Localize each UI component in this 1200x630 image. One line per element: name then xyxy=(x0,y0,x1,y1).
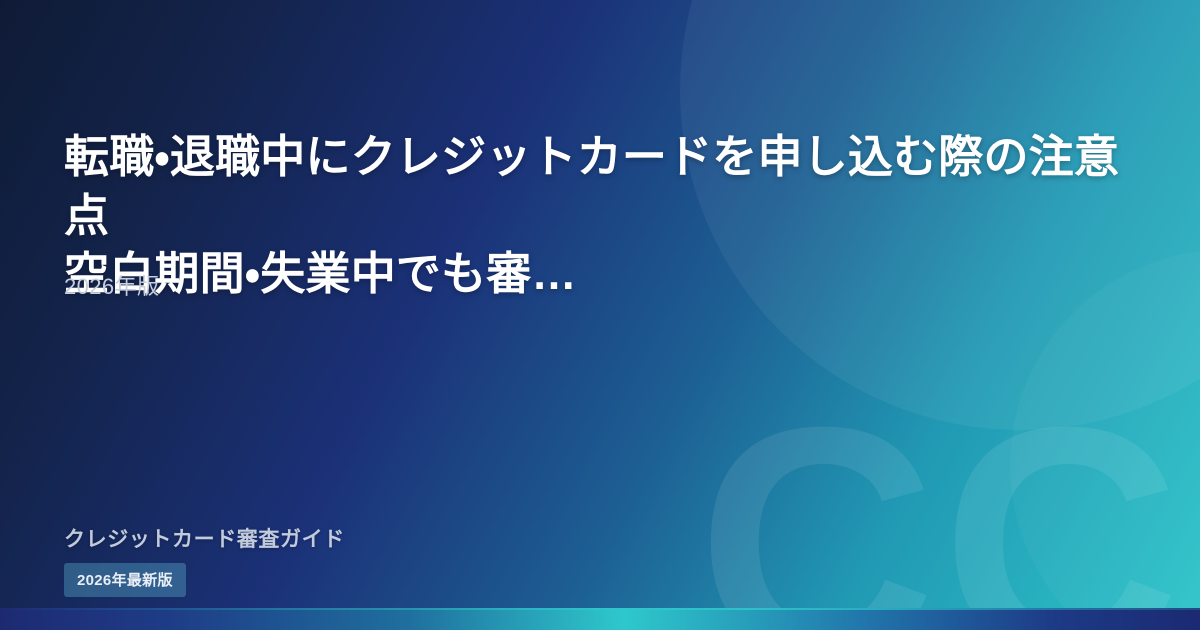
brand-name: クレジットカード審査ガイド xyxy=(64,527,345,552)
status-badge: 2026年最新版 xyxy=(64,563,186,597)
card-footer: クレジットカード審査ガイド 2026年最新版 xyxy=(64,527,345,597)
page-title-line-2: 空白期間・失業中でも審… xyxy=(64,245,1126,304)
page-subtitle: 2026年版 xyxy=(64,272,159,303)
page-title-line-1: 転職・退職中にクレジットカードを申し込む際の注意点 xyxy=(64,128,1126,245)
page-title: 転職・退職中にクレジットカードを申し込む際の注意点 空白期間・失業中でも審… xyxy=(64,128,1126,304)
bottom-accent-bar xyxy=(0,608,1200,630)
ogp-card: CC 転職・退職中にクレジットカードを申し込む際の注意点 空白期間・失業中でも審… xyxy=(0,0,1200,630)
card-content: 転職・退職中にクレジットカードを申し込む際の注意点 空白期間・失業中でも審… 2… xyxy=(64,0,1136,630)
